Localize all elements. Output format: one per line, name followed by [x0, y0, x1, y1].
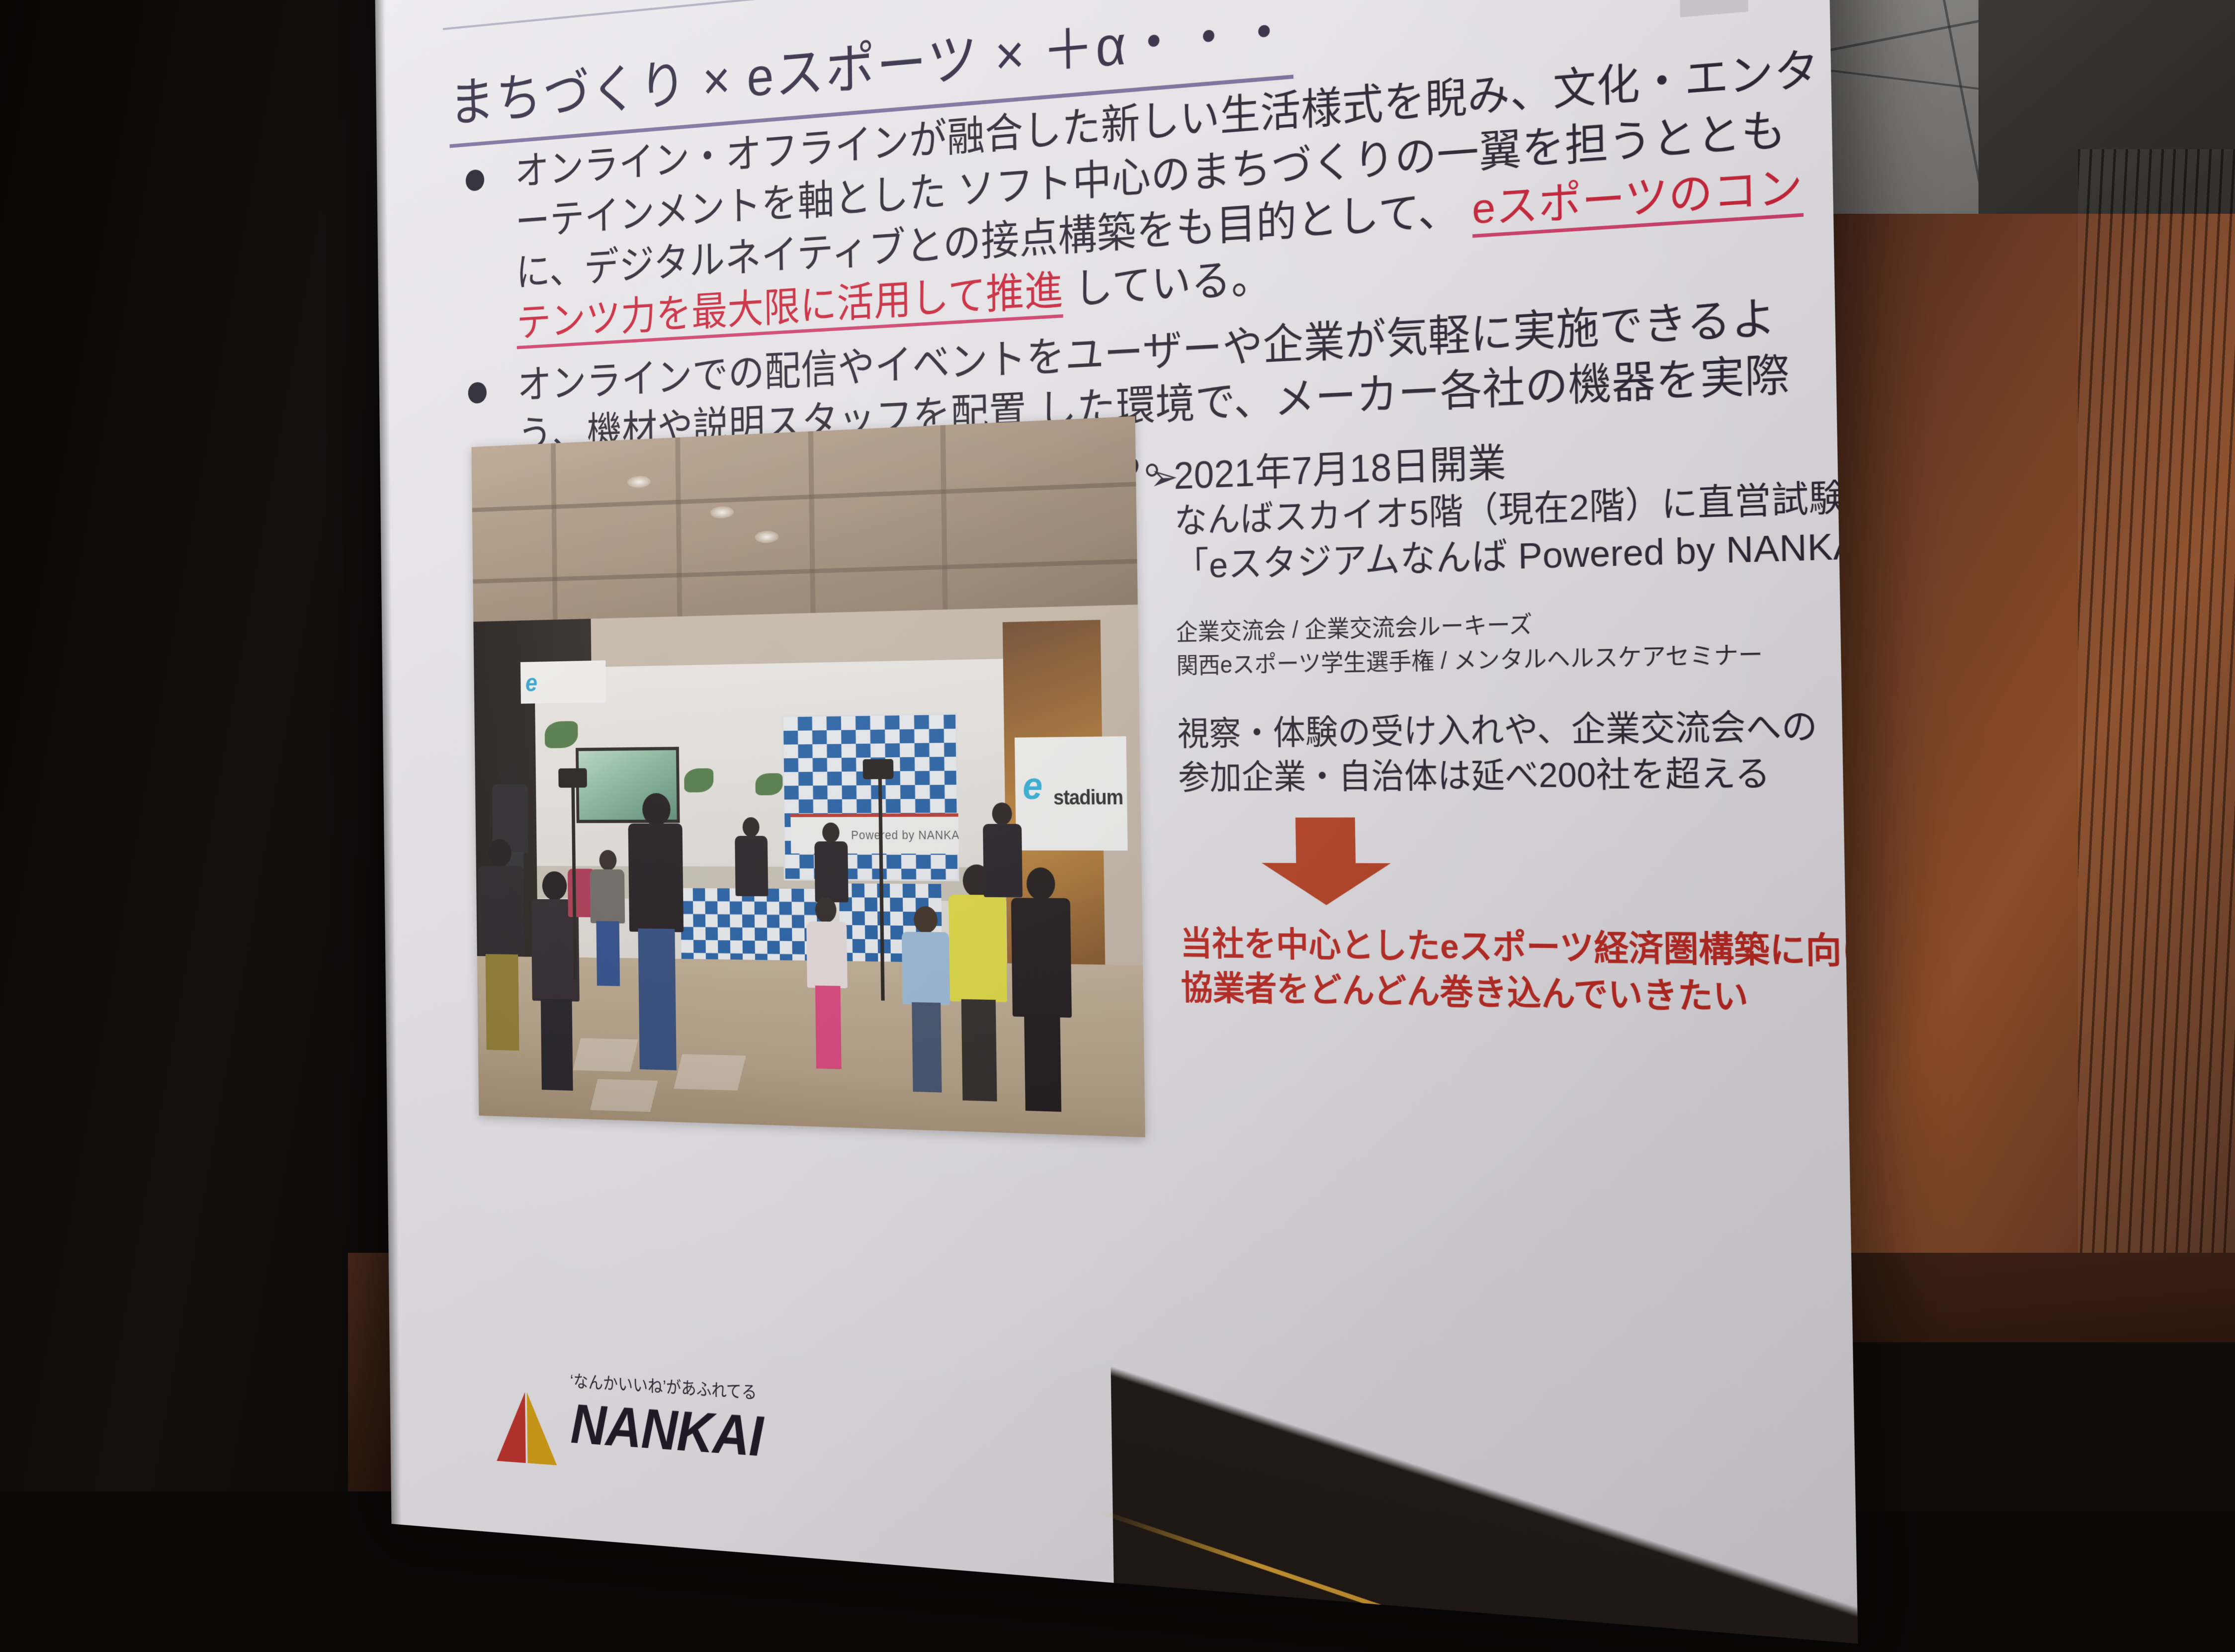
photo-person-legs [596, 921, 620, 986]
photo-person-torso [590, 869, 625, 924]
down-arrow-head [1262, 863, 1391, 905]
projection-screen-wrapper: eスポーツ 28 まちづくり × eスポーツ × ＋α・・・ オンライン・オフラ… [0, 0, 2235, 1491]
right-mid-line: 視察・体験の受け入れや、企業交流会への [1177, 704, 1774, 756]
photo-ceiling-band [472, 482, 1136, 512]
right-sub-block: 企業交流会 / 企業交流会ルーキーズ 関西eスポーツ学生選手権 / メンタルヘル… [1176, 599, 1773, 681]
photo-person-legs [1024, 1015, 1061, 1112]
photo-person-legs [815, 985, 842, 1069]
bullet-dot-icon [466, 169, 485, 191]
photo-downlight [755, 530, 778, 543]
photo-person [476, 839, 529, 1047]
photo-person-head [642, 793, 671, 826]
photo-ceiling-band [473, 559, 1137, 584]
nankai-logo: ‘なんかいいね’があふれてる NANKAI [496, 1363, 837, 1489]
right-conclusion-block: 当社を中心としたeスポーツ経済圏構築に向けて、 協業者をどんどん巻き込んでいきた… [1180, 921, 1779, 1022]
down-arrow-icon [1261, 817, 1391, 906]
photo-person-head [542, 871, 567, 900]
photo-person-head [815, 897, 837, 923]
photo-estadium-wordmark: stadium [1053, 785, 1123, 810]
photo-ceiling-slat [808, 431, 816, 613]
photo-person-legs [961, 999, 997, 1102]
photo-estadium-sign: e stadium [1015, 736, 1128, 851]
photo-person [804, 897, 852, 1080]
photo-person-legs [638, 929, 676, 1070]
photo-person-legs [912, 1002, 942, 1093]
photo-person [981, 802, 1025, 933]
photo-downlight [710, 506, 734, 519]
down-arrow-shaft [1295, 817, 1356, 864]
photo-ceiling-slat [675, 437, 682, 616]
photo-person-head [488, 839, 512, 867]
photo-person [734, 817, 770, 933]
photo-person-head [992, 802, 1012, 825]
photo-plant [684, 768, 714, 792]
page-number-badge: 28 [1679, 0, 1748, 17]
triangle-arrow-icon: ➢ [1150, 459, 1179, 496]
logo-triangle-red [496, 1391, 526, 1463]
photo-person-legs [486, 954, 519, 1050]
photo-person-head [914, 906, 938, 933]
photo-sign-left: e [520, 660, 606, 703]
conclusion-line: 当社を中心としたeスポーツ経済圏構築に向けて、 [1180, 921, 1778, 974]
photo-person-torso [628, 823, 684, 932]
photo-person-torso [902, 932, 950, 1005]
photo-person-torso [478, 866, 525, 956]
photo-person-torso [983, 824, 1023, 897]
photo-downlight [627, 475, 651, 488]
right-mid-block: 視察・体験の受け入れや、企業交流会への 参加企業・自治体は延べ200社を超える [1177, 704, 1775, 800]
wall-shadow-edge [1096, 1508, 1858, 1644]
wall-shadow-overlay [1109, 1193, 1858, 1644]
photo-floor-tile [590, 1079, 658, 1112]
nankai-mark-icon [496, 1391, 559, 1466]
photo-estadium-e-icon: e [525, 668, 538, 697]
photo-estadium-e-icon: e [1023, 767, 1043, 805]
photo-backdrop-checker [782, 713, 959, 881]
photo-person-torso [814, 841, 848, 902]
photo-person-head [743, 817, 760, 837]
photo-person-head [599, 850, 616, 870]
bullet-segment: している。 [1074, 254, 1272, 312]
photo-camera [863, 759, 894, 780]
screen-left-edge [374, 0, 402, 1525]
right-mid-line: 参加企業・自治体は延べ200社を超える [1178, 751, 1775, 800]
photo-person-head [499, 762, 519, 785]
right-text-column: ➢ 2021年7月18日開業 なんばスカイオ5階（現在2階）に直営試験運用施設 … [1174, 427, 1779, 1022]
bullet-dot-icon [468, 381, 487, 404]
photo-venue-ceiling [471, 416, 1137, 621]
photo-person-legs [541, 999, 573, 1091]
logo-wordmark: NANKAI [570, 1392, 763, 1470]
conclusion-line: 協業者をどんどん巻き込んでいきたい [1181, 966, 1779, 1022]
logo-triangle-gold [527, 1392, 557, 1466]
projection-screen: eスポーツ 28 まちづくり × eスポーツ × ＋α・・・ オンライン・オフラ… [374, 0, 1858, 1644]
photo-person [624, 793, 690, 1076]
photo-camera [558, 768, 587, 787]
photo-person-torso [735, 836, 768, 896]
photo-plant [755, 773, 782, 795]
photo-person-head [822, 823, 840, 843]
photo-person-head [1027, 868, 1055, 900]
right-lines-block: 2021年7月18日開業 なんばスカイオ5階（現在2階）に直営試験運用施設 「e… [1174, 427, 1772, 590]
photo-person-torso [806, 921, 848, 988]
photo-person [589, 850, 628, 991]
photo-ceiling-slat [551, 443, 558, 619]
photo-ceiling-slat [940, 425, 947, 609]
slide-canvas: eスポーツ 28 まちづくり × eスポーツ × ＋α・・・ オンライン・オフラ… [374, 0, 1858, 1644]
photo-person [900, 906, 954, 1098]
venue-photo: e Powered by NANKAI e stadium [471, 416, 1145, 1137]
